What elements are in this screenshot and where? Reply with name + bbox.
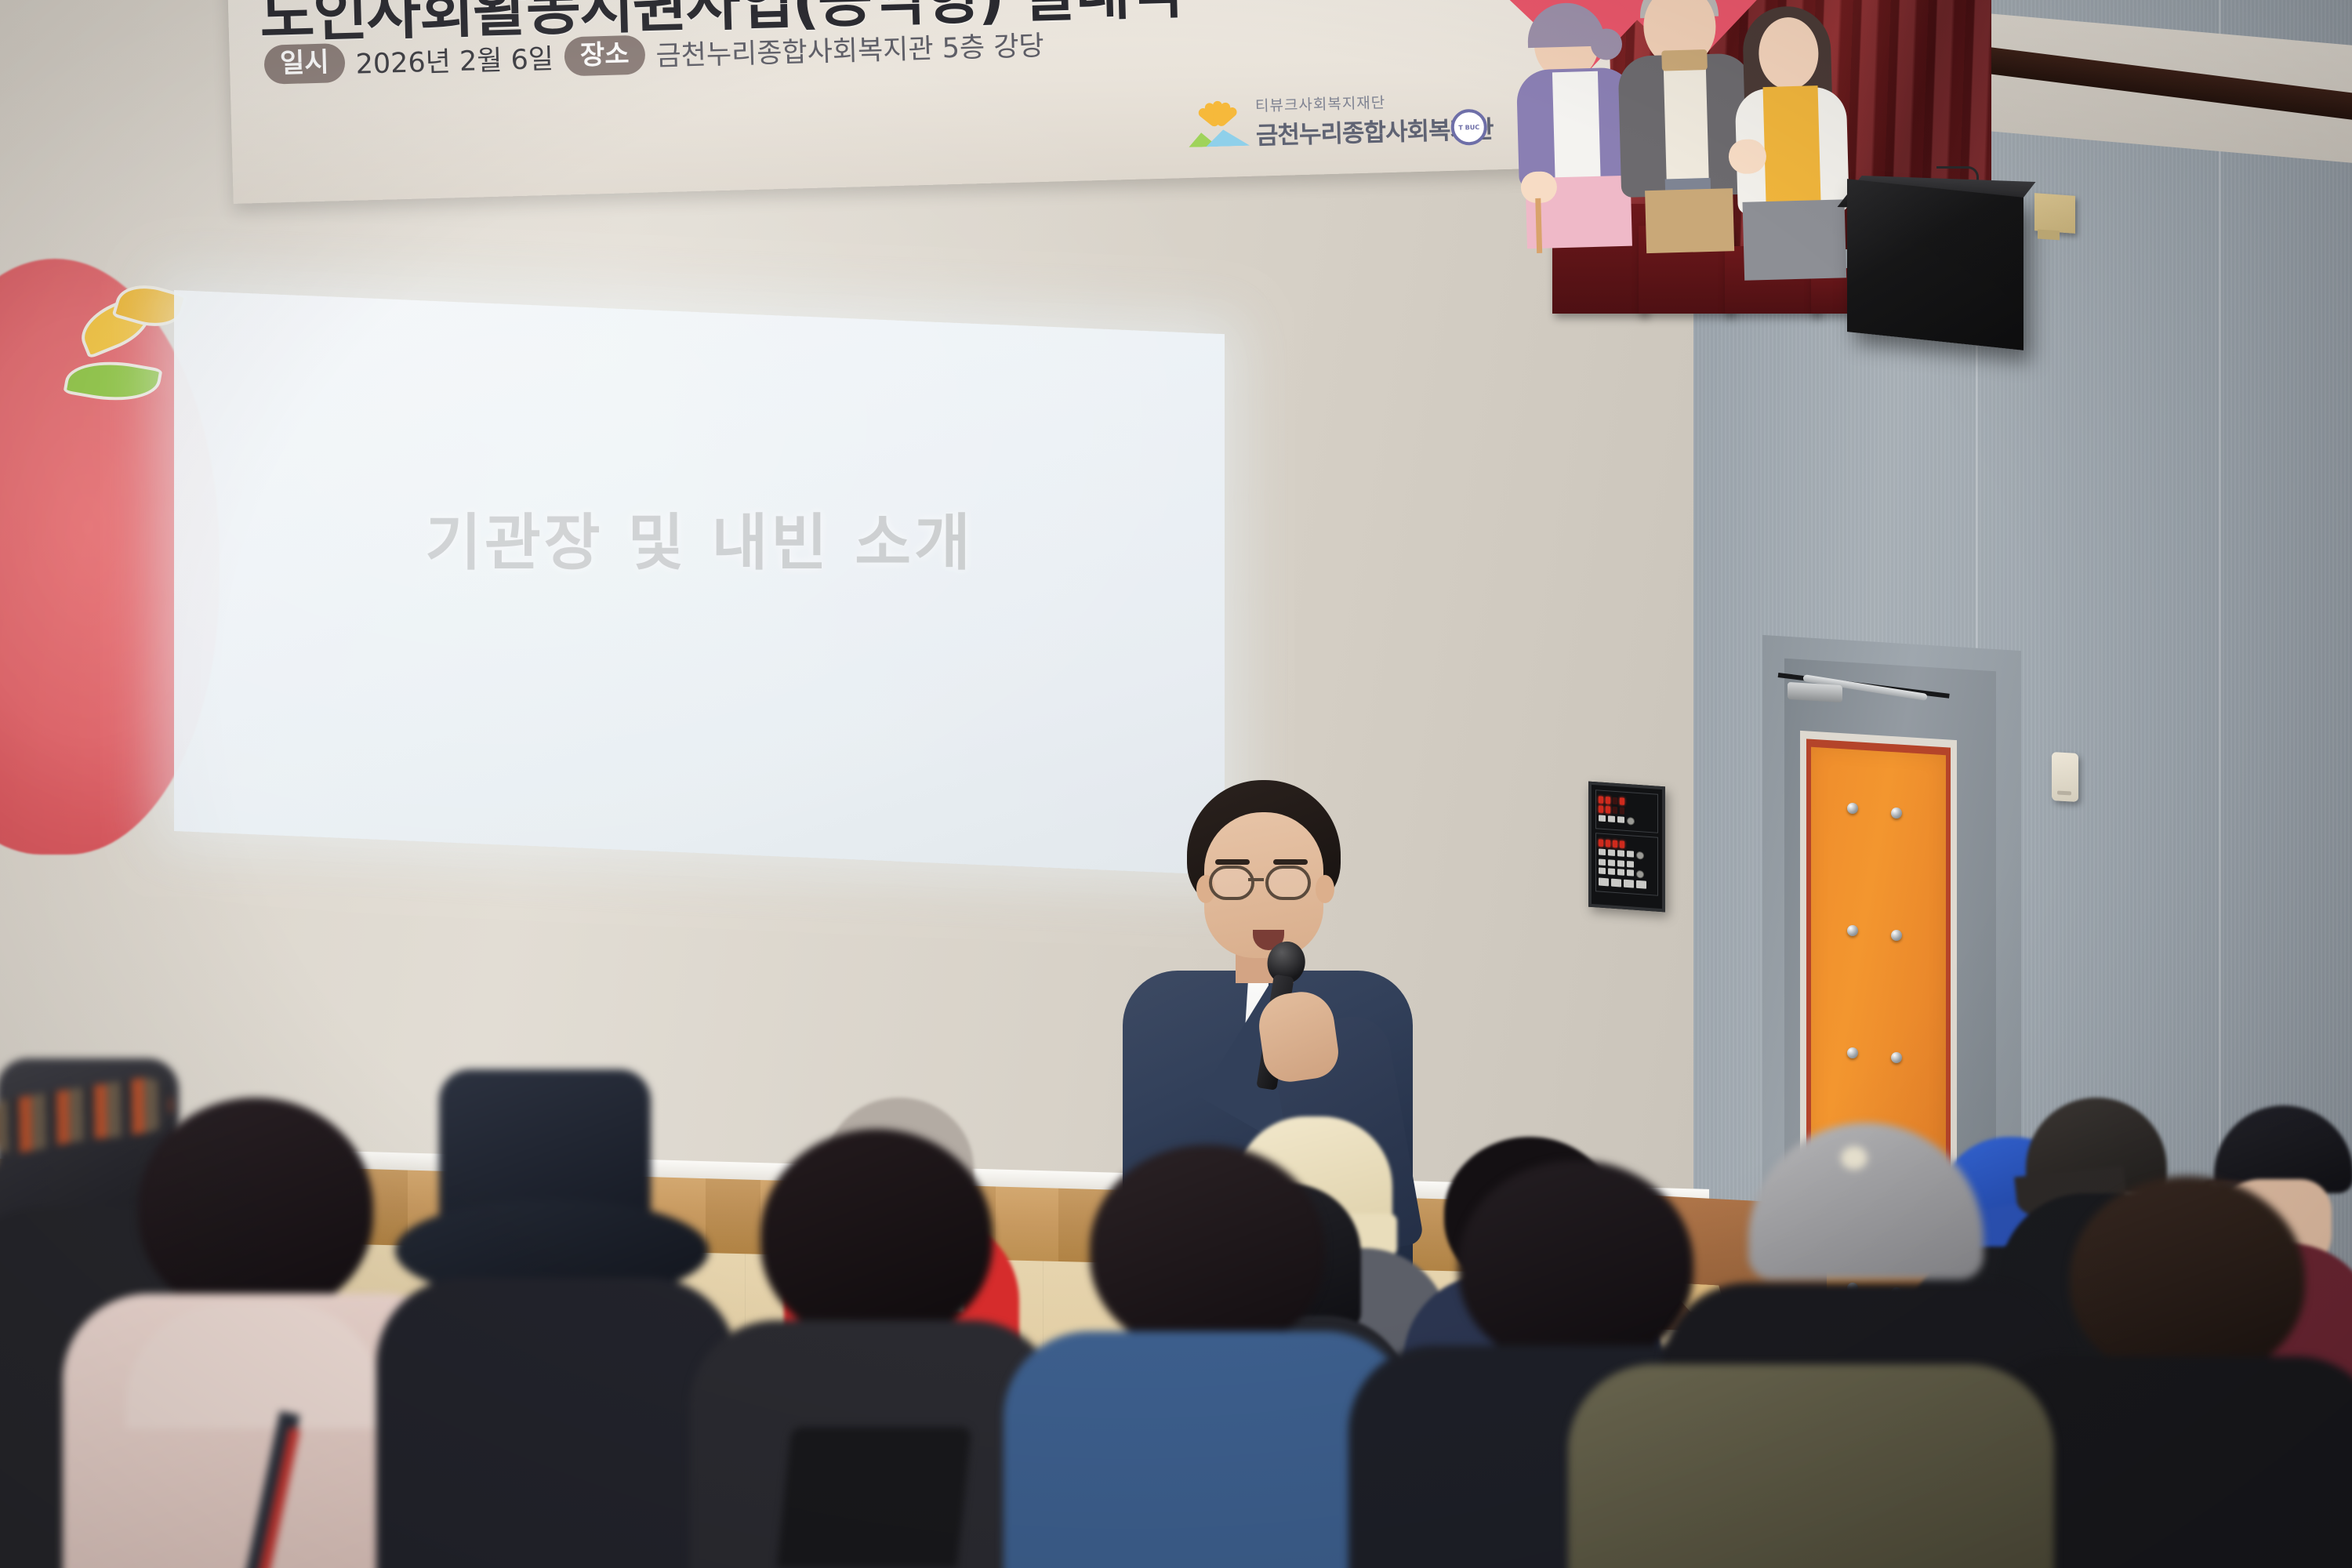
audience-member <box>376 1082 737 1568</box>
projection-screen: 기관장 및 내빈 소개 <box>174 290 1225 875</box>
glasses-icon <box>1209 866 1254 900</box>
door-stud <box>1847 925 1858 936</box>
door-stud <box>1891 930 1902 941</box>
glasses-bridge <box>1248 878 1264 881</box>
glasses-icon <box>1265 866 1311 900</box>
audience-member <box>1568 1333 2054 1568</box>
event-photo-scene: 노인사회활동지원사업(공익형) 발대식 일시 2026년 2월 6일 장소 금천… <box>0 0 2352 1568</box>
door-stud <box>1891 1052 1902 1063</box>
figure-young-woman <box>1731 5 1853 243</box>
chair-back <box>784 1427 964 1568</box>
person-brow <box>1215 859 1250 865</box>
banner-date-value: 2026년 2월 6일 <box>355 37 554 82</box>
banner-illustration <box>1512 0 1850 255</box>
wall-bracket-icon <box>2034 193 2075 234</box>
door-stud <box>1847 1047 1858 1058</box>
control-panel[interactable] <box>1588 782 1665 913</box>
banner-place-label: 장소 <box>564 34 645 76</box>
door-closer-body <box>1788 682 1842 702</box>
person-ear <box>1316 875 1334 903</box>
door-stud <box>1847 803 1858 814</box>
control-panel-upper[interactable] <box>1595 789 1658 833</box>
person-brow <box>1273 859 1308 865</box>
sunrise-icon <box>1188 99 1247 149</box>
wall-speaker <box>1847 179 2024 350</box>
slide-title: 기관장 및 내빈 소개 <box>174 494 1225 582</box>
control-panel-lower[interactable] <box>1595 833 1658 896</box>
banner-date-label: 일시 <box>263 43 345 85</box>
organization-logo: 티뷰크사회복지재단 금천누리종합사회복지관 <box>1188 88 1494 152</box>
wall-sensor-icon <box>2052 752 2078 802</box>
door-stud <box>1891 808 1902 818</box>
